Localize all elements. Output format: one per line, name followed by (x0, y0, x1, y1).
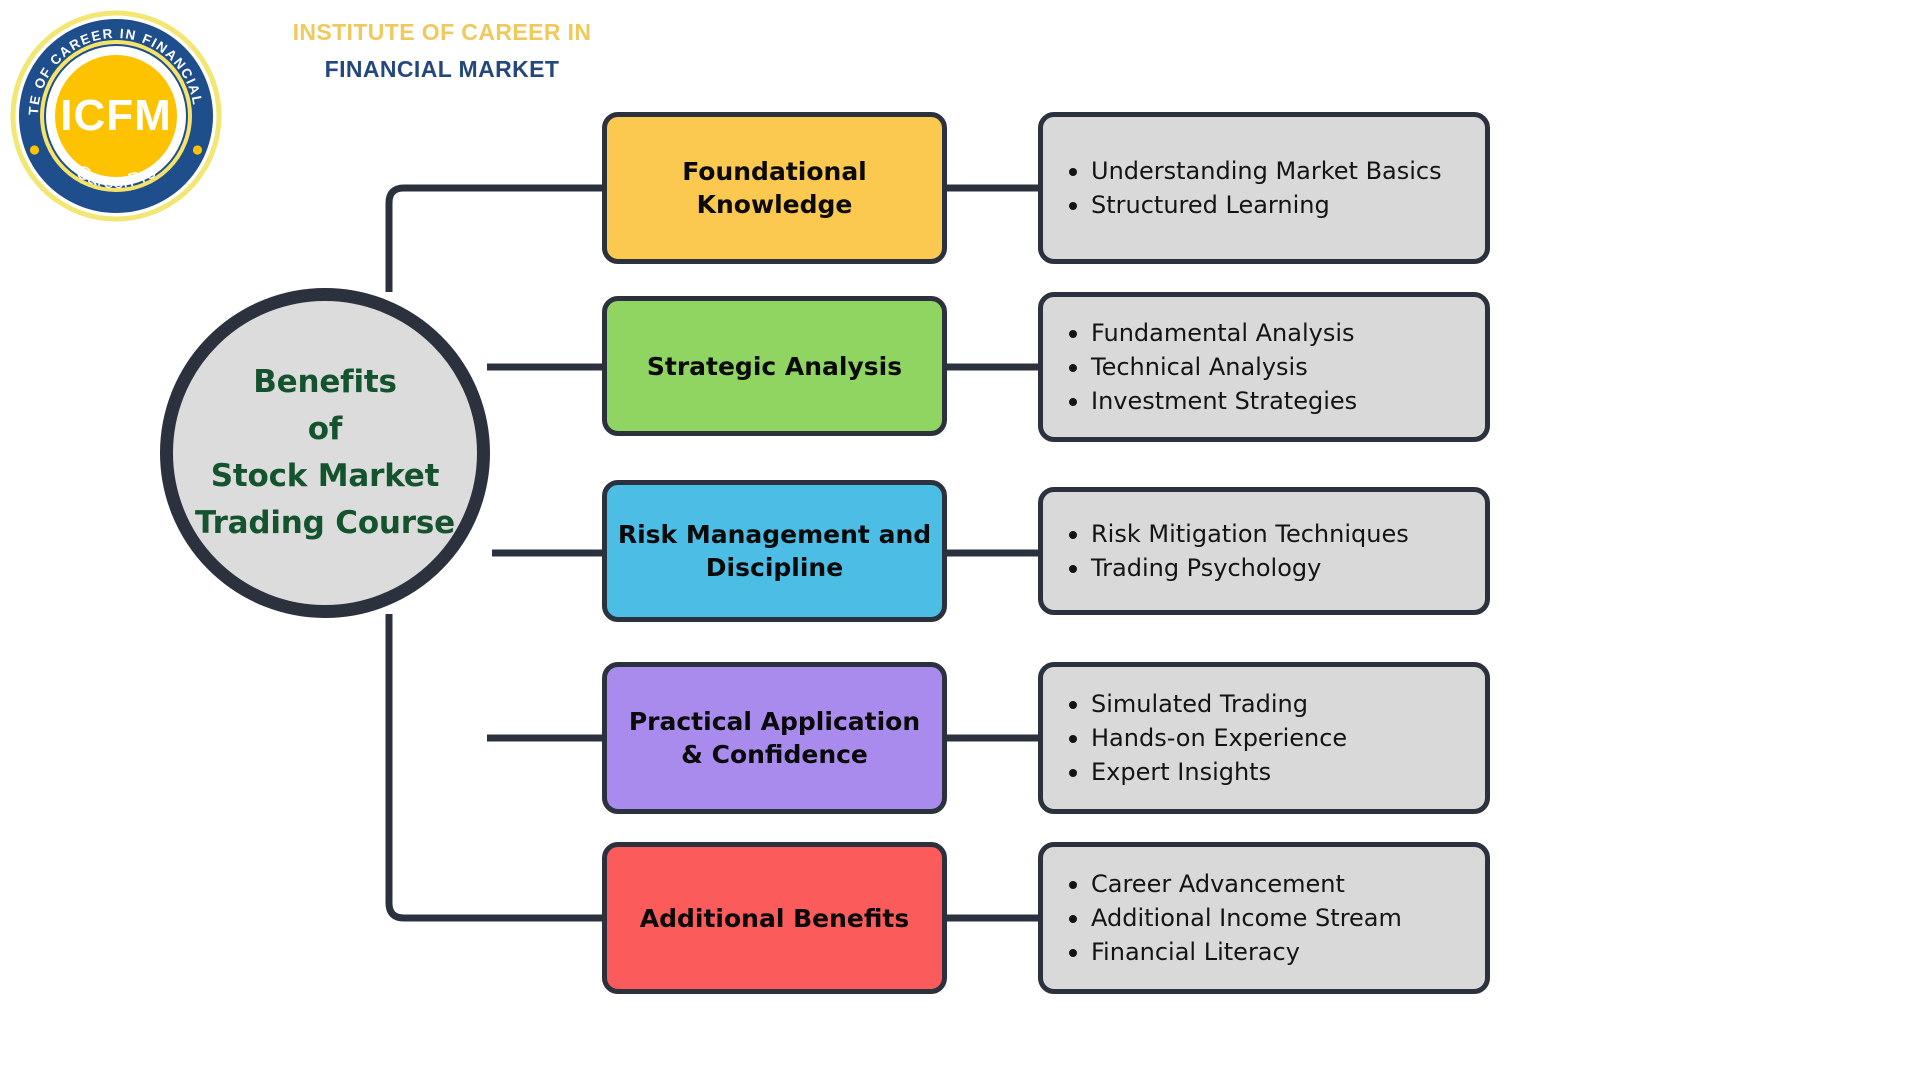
category-label: Risk Management and Discipline (617, 518, 932, 584)
diagram-canvas: INSTITUTE OF CAREER IN FINANCIAL MARKET … (0, 0, 1920, 1080)
icfm-seal-logo: INSTITUTE OF CAREER IN FINANCIAL MARKET … (10, 10, 222, 222)
list-item: Expert Insights (1091, 755, 1475, 789)
category-box-foundational-knowledge[interactable]: Foundational Knowledge (602, 112, 947, 264)
detail-box-additional-benefits: Career Advancement Additional Income Str… (1038, 842, 1490, 994)
central-hub-label: Benefits of Stock Market Trading Course (195, 359, 455, 547)
category-label: Foundational Knowledge (617, 155, 932, 221)
list-item: Technical Analysis (1091, 350, 1475, 384)
category-label: Practical Application & Confidence (617, 705, 932, 771)
detail-box-foundational-knowledge: Understanding Market Basics Structured L… (1038, 112, 1490, 264)
list-item: Risk Mitigation Techniques (1091, 517, 1475, 551)
category-label: Strategic Analysis (647, 350, 902, 383)
category-label: Additional Benefits (640, 902, 909, 935)
list-item: Additional Income Stream (1091, 901, 1475, 935)
list-item: Structured Learning (1091, 188, 1475, 222)
list-item: Financial Literacy (1091, 935, 1475, 969)
brand-header: INSTITUTE OF CAREER IN FINANCIAL MARKET … (8, 6, 628, 236)
category-box-strategic-analysis[interactable]: Strategic Analysis (602, 296, 947, 436)
list-item: Hands-on Experience (1091, 721, 1475, 755)
list-item: Simulated Trading (1091, 687, 1475, 721)
list-item: Investment Strategies (1091, 384, 1475, 418)
detail-box-practical-application-and-confidence: Simulated Trading Hands-on Experience Ex… (1038, 662, 1490, 814)
list-item: Trading Psychology (1091, 551, 1475, 585)
detail-list: Fundamental Analysis Technical Analysis … (1057, 316, 1475, 418)
detail-list: Career Advancement Additional Income Str… (1057, 867, 1475, 969)
detail-list: Understanding Market Basics Structured L… (1057, 154, 1475, 222)
list-item: Fundamental Analysis (1091, 316, 1475, 350)
brand-title-line-1: INSTITUTE OF CAREER IN (252, 18, 632, 47)
category-box-risk-management-and-discipline[interactable]: Risk Management and Discipline (602, 480, 947, 622)
detail-list: Simulated Trading Hands-on Experience Ex… (1057, 687, 1475, 789)
brand-title: INSTITUTE OF CAREER IN FINANCIAL MARKET (252, 18, 632, 84)
category-box-additional-benefits[interactable]: Additional Benefits (602, 842, 947, 994)
list-item: Career Advancement (1091, 867, 1475, 901)
central-hub-node: Benefits of Stock Market Trading Course (160, 288, 490, 618)
brand-title-line-2: FINANCIAL MARKET (252, 55, 632, 84)
detail-box-risk-management-and-discipline: Risk Mitigation Techniques Trading Psych… (1038, 487, 1490, 615)
list-item: Understanding Market Basics (1091, 154, 1475, 188)
category-box-practical-application-and-confidence[interactable]: Practical Application & Confidence (602, 662, 947, 814)
detail-box-strategic-analysis: Fundamental Analysis Technical Analysis … (1038, 292, 1490, 442)
detail-list: Risk Mitigation Techniques Trading Psych… (1057, 517, 1475, 585)
svg-text:ICFM: ICFM (60, 91, 172, 140)
